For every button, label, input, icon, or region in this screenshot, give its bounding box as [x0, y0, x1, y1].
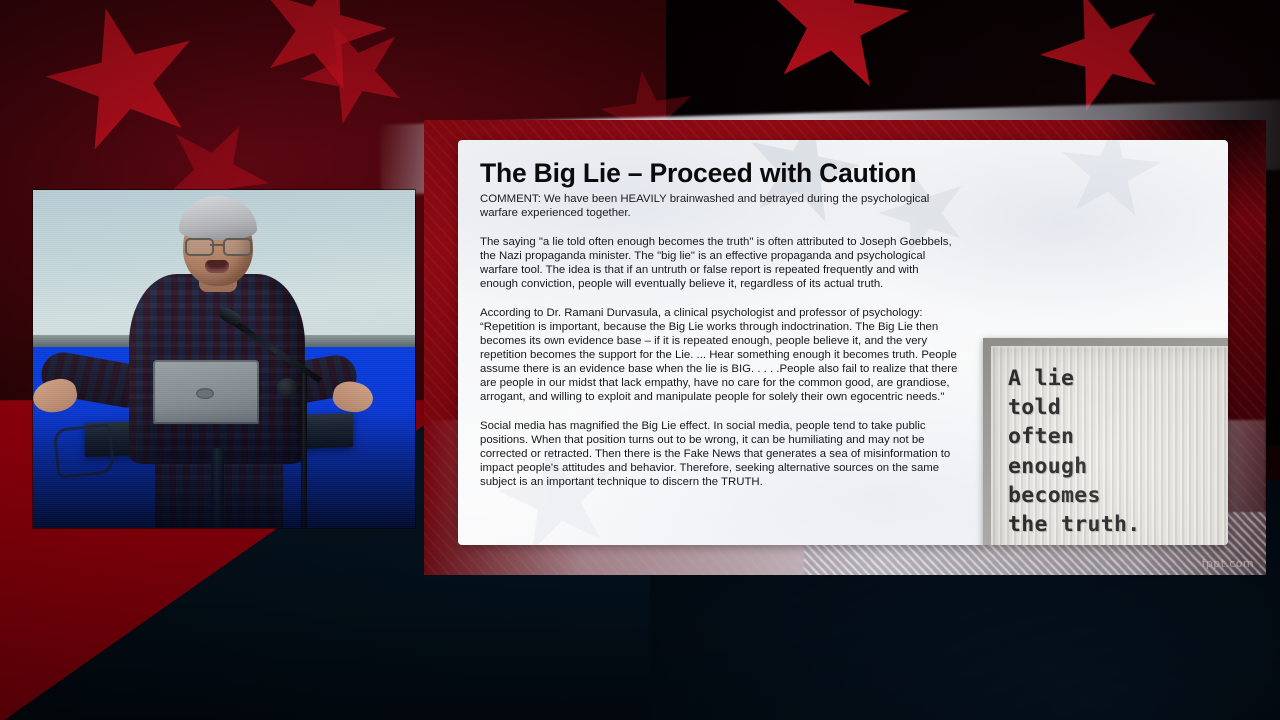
quote-wood-board: A lie told often enough becomes the trut…	[991, 346, 1228, 545]
eyeglasses-icon	[223, 238, 252, 256]
slide-title: The Big Lie – Proceed with Caution	[480, 159, 1206, 188]
speaker-video-panel[interactable]	[33, 190, 415, 528]
eyeglasses-icon	[185, 238, 214, 256]
quote-image: A lie told often enough becomes the trut…	[983, 338, 1228, 545]
backdrop-shadow	[33, 408, 415, 528]
slide-paragraph: Social media has magnified the Big Lie e…	[480, 419, 958, 490]
watermark-label: fppt.com	[1202, 557, 1254, 570]
quote-text: A lie told often enough becomes the trut…	[1008, 364, 1140, 539]
presentation-slide[interactable]: The Big Lie – Proceed with Caution COMME…	[424, 120, 1266, 575]
slide-comment-text: COMMENT: We have been HEAVILY brainwashe…	[480, 193, 950, 221]
slide-content-card: The Big Lie – Proceed with Caution COMME…	[458, 140, 1228, 545]
slide-paragraph-column: The saying "a lie told often enough beco…	[480, 235, 958, 489]
screen: The Big Lie – Proceed with Caution COMME…	[0, 0, 1280, 720]
laptop-logo	[196, 388, 214, 399]
slide-paragraph: According to Dr. Ramani Durvasula, a cli…	[480, 306, 958, 405]
quote-image-frame: A lie told often enough becomes the trut…	[983, 338, 1228, 545]
microphone-joint	[277, 378, 297, 398]
slide-paragraph: The saying "a lie told often enough beco…	[480, 235, 958, 292]
eyeglasses-bridge	[210, 244, 223, 246]
speaker-mouth	[205, 260, 229, 273]
